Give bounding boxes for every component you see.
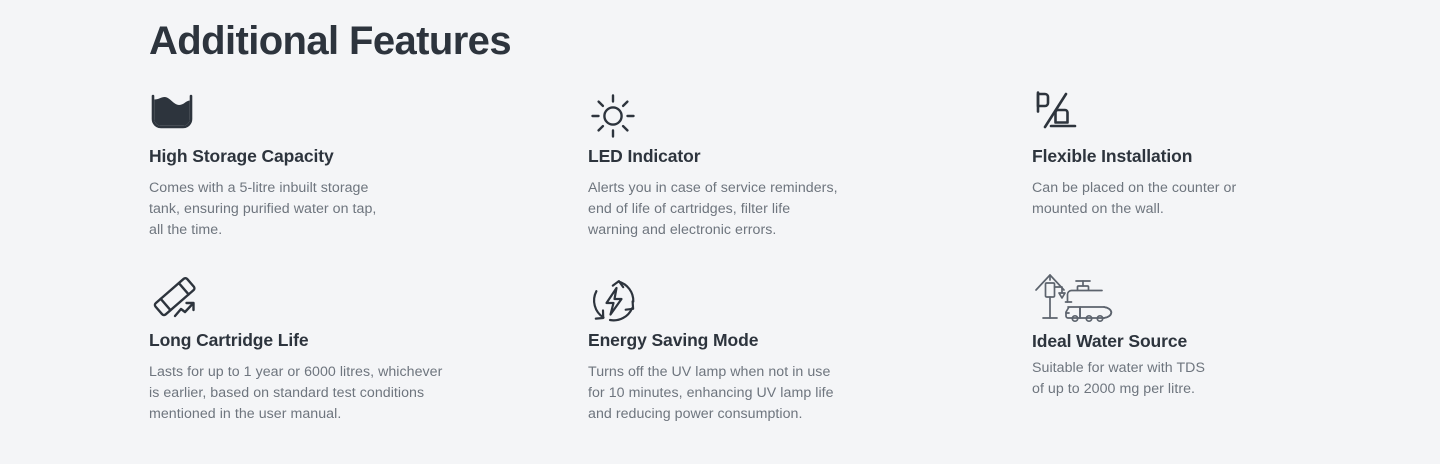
feature-description-line: tank, ensuring purified water on tap, [149, 199, 509, 220]
feature-description-line: Alerts you in case of service reminders, [588, 178, 948, 199]
feature-title: Flexible Installation [1032, 146, 1392, 167]
feature-description: Can be placed on the counter or mounted … [1032, 178, 1392, 220]
feature-card-flexible-installation: Flexible Installation Can be placed on t… [1032, 92, 1392, 220]
page-title: Additional Features [149, 18, 511, 65]
wall-counter-mount-icon [1032, 88, 1392, 140]
energy-recycle-bolt-icon [588, 276, 948, 328]
feature-description-line: mentioned in the user manual. [149, 404, 509, 425]
feature-description: Suitable for water with TDS of up to 200… [1032, 358, 1392, 400]
led-sun-icon [588, 92, 948, 144]
feature-description-line: Can be placed on the counter or [1032, 178, 1392, 199]
feature-title: Ideal Water Source [1032, 331, 1392, 352]
feature-description-line: Comes with a 5-litre inbuilt storage [149, 178, 509, 199]
feature-description-line: Suitable for water with TDS [1032, 358, 1392, 379]
feature-description-line: warning and electronic errors. [588, 220, 948, 241]
feature-description-line: of up to 2000 mg per litre. [1032, 379, 1392, 400]
feature-card-led-indicator: LED Indicator Alerts you in case of serv… [588, 92, 948, 241]
additional-features-section: Additional Features High Storage Capacit… [0, 0, 1440, 464]
feature-description-line: and reducing power consumption. [588, 404, 948, 425]
feature-title: High Storage Capacity [149, 146, 509, 167]
feature-description: Alerts you in case of service reminders,… [588, 178, 948, 241]
feature-card-energy-saving-mode: Energy Saving Mode Turns off the UV lamp… [588, 277, 948, 425]
water-tank-icon [149, 92, 509, 144]
feature-card-ideal-water-source: Ideal Water Source Suitable for water wi… [1032, 277, 1392, 400]
feature-title: LED Indicator [588, 146, 948, 167]
feature-card-long-cartridge-life: Long Cartridge Life Lasts for up to 1 ye… [149, 277, 509, 425]
cartridge-trend-icon [149, 276, 509, 328]
feature-description-line: for 10 minutes, enhancing UV lamp life [588, 383, 948, 404]
feature-card-high-storage-capacity: High Storage Capacity Comes with a 5-lit… [149, 92, 509, 241]
water-source-icon [1032, 271, 1392, 323]
feature-title: Energy Saving Mode [588, 330, 948, 351]
feature-description-line: is earlier, based on standard test condi… [149, 383, 509, 404]
feature-description-line: mounted on the wall. [1032, 199, 1392, 220]
feature-description: Comes with a 5-litre inbuilt storage tan… [149, 178, 509, 241]
feature-description-line: Turns off the UV lamp when not in use [588, 362, 948, 383]
feature-description: Turns off the UV lamp when not in use fo… [588, 362, 948, 425]
feature-title: Long Cartridge Life [149, 330, 509, 351]
feature-description: Lasts for up to 1 year or 6000 litres, w… [149, 362, 509, 425]
feature-description-line: Lasts for up to 1 year or 6000 litres, w… [149, 362, 509, 383]
feature-description-line: all the time. [149, 220, 509, 241]
feature-description-line: end of life of cartridges, filter life [588, 199, 948, 220]
